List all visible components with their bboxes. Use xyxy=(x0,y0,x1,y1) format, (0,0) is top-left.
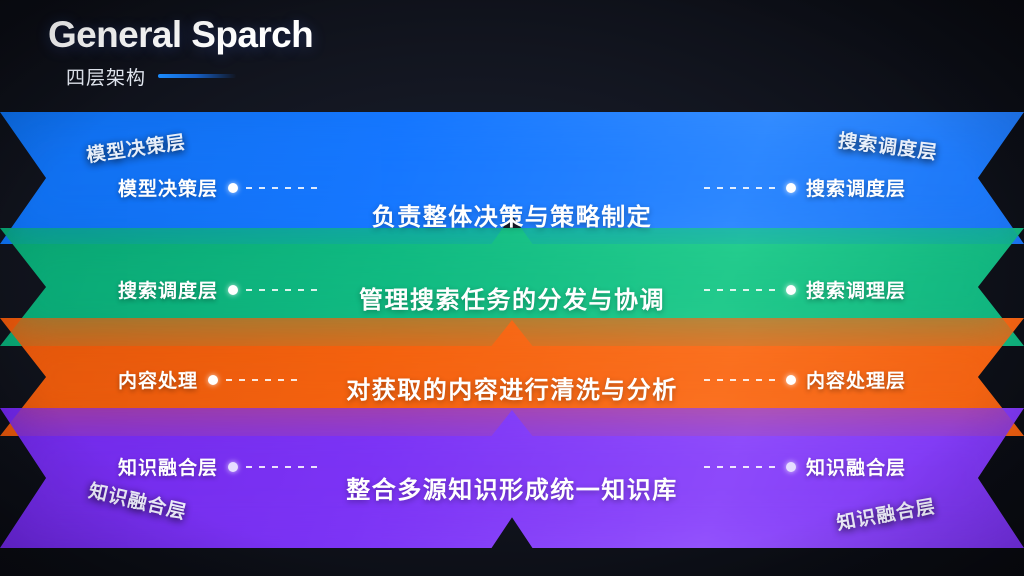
connector-right-content-processing xyxy=(704,375,796,385)
layer-center-text-model-decision: 负责整体决策与策略制定 xyxy=(0,197,1024,232)
layer-left-label-text-search-scheduling: 搜索调度层 xyxy=(118,276,218,303)
connector-right-search-scheduling xyxy=(704,285,796,295)
slide-canvas: General Sparch 四层架构 模型决策层 搜索调度层 知识融合层 知识… xyxy=(0,0,1024,576)
connector-dot-icon xyxy=(208,375,218,385)
connector-dot-icon xyxy=(228,285,238,295)
layer-right-label-text-content-processing: 内容处理层 xyxy=(806,366,906,393)
connector-dot-icon xyxy=(228,462,238,472)
connector-left-search-scheduling xyxy=(228,285,320,295)
connector-dot-icon xyxy=(786,183,796,193)
page-subtitle: 四层架构 xyxy=(66,63,146,90)
connector-dot-icon xyxy=(786,462,796,472)
layer-left-label-search-scheduling[interactable]: 搜索调度层 xyxy=(118,276,320,303)
layer-right-label-text-model-decision: 搜索调度层 xyxy=(806,174,906,201)
layer-right-label-model-decision[interactable]: 搜索调度层 xyxy=(704,174,906,201)
layer-left-label-content-processing[interactable]: 内容处理 xyxy=(118,366,300,393)
connector-left-content-processing xyxy=(208,375,300,385)
layer-left-label-text-content-processing: 内容处理 xyxy=(118,366,198,393)
connector-left-knowledge-fusion xyxy=(228,462,320,472)
connector-dot-icon xyxy=(786,375,796,385)
connector-dash-line xyxy=(246,187,320,189)
connector-right-model-decision xyxy=(704,183,796,193)
layer-right-label-knowledge-fusion[interactable]: 知识融合层 xyxy=(704,453,906,480)
page-title: General Sparch xyxy=(48,14,313,57)
layer-left-label-text-model-decision: 模型决策层 xyxy=(118,174,218,201)
layer-right-label-text-knowledge-fusion: 知识融合层 xyxy=(806,453,906,480)
subtitle-row: 四层架构 xyxy=(66,63,313,90)
connector-right-knowledge-fusion xyxy=(704,462,796,472)
connector-dash-line xyxy=(246,466,320,468)
layer-right-label-content-processing[interactable]: 内容处理层 xyxy=(704,366,906,393)
layer-left-label-text-knowledge-fusion: 知识融合层 xyxy=(118,453,218,480)
connector-left-model-decision xyxy=(228,183,320,193)
connector-dash-line xyxy=(226,379,300,381)
connector-dash-line xyxy=(704,187,778,189)
slide-header: General Sparch 四层架构 xyxy=(48,14,313,90)
layer-left-label-model-decision[interactable]: 模型决策层 xyxy=(118,174,320,201)
connector-dash-line xyxy=(246,289,320,291)
connector-dash-line xyxy=(704,466,778,468)
layer-left-label-knowledge-fusion[interactable]: 知识融合层 xyxy=(118,453,320,480)
subtitle-underline-rule xyxy=(158,74,236,78)
layer-right-label-text-search-scheduling: 搜索调理层 xyxy=(806,276,906,303)
layer-right-label-search-scheduling[interactable]: 搜索调理层 xyxy=(704,276,906,303)
connector-dash-line xyxy=(704,379,778,381)
connector-dot-icon xyxy=(228,183,238,193)
connector-dash-line xyxy=(704,289,778,291)
connector-dot-icon xyxy=(786,285,796,295)
